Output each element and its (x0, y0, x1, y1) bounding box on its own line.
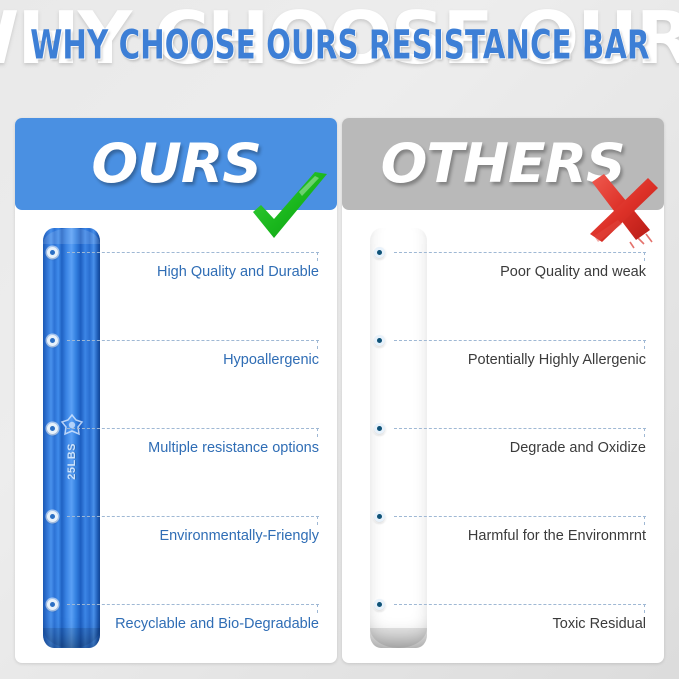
leader-tick (644, 516, 646, 525)
feature-row: Poor Quality and weak (342, 252, 664, 282)
leader-line (394, 340, 646, 342)
leader-line (394, 428, 646, 430)
bar-marker-dot (47, 335, 58, 346)
feature-row: Degrade and Oxidize (342, 428, 664, 458)
feature-label: Environmentally-Friengly (159, 528, 319, 545)
leader-tick (317, 604, 319, 613)
leader-tick (317, 340, 319, 349)
comparison-infographic: WHY CHOOSE OURS WHY CHOOSE OURS RESISTAN… (0, 0, 679, 679)
leader-line (67, 428, 319, 430)
panel-others-title: OTHERS (381, 137, 625, 191)
feature-row: Multiple resistance options (15, 428, 337, 458)
leader-tick (644, 252, 646, 261)
leader-tick (644, 428, 646, 437)
feature-label: High Quality and Durable (157, 264, 319, 281)
bar-marker-dot (47, 511, 58, 522)
feature-row: Toxic Residual (342, 604, 664, 634)
bar-marker-dot (47, 423, 58, 434)
leader-line (394, 516, 646, 518)
bar-marker-dot (374, 423, 385, 434)
feature-rows-others: Poor Quality and weak Potentially Highly… (342, 210, 664, 663)
leader-tick (644, 604, 646, 613)
leader-tick (644, 340, 646, 349)
feature-label: Multiple resistance options (148, 440, 319, 457)
feature-label: Harmful for the Environmrnt (468, 528, 646, 545)
bar-marker-dot (374, 511, 385, 522)
page-title: WHY CHOOSE OURS RESISTANCE BAR (30, 22, 649, 69)
feature-row: Harmful for the Environmrnt (342, 516, 664, 546)
leader-tick (317, 428, 319, 437)
panel-ours-title: OURS (91, 137, 261, 191)
feature-rows-ours: High Quality and Durable Hypoallergenic … (15, 210, 337, 663)
feature-label: Potentially Highly Allergenic (468, 352, 646, 369)
comparison-panels: OURS (0, 118, 679, 666)
feature-row: High Quality and Durable (15, 252, 337, 282)
feature-label: Toxic Residual (553, 616, 647, 633)
leader-line (67, 516, 319, 518)
bar-marker-dot (47, 247, 58, 258)
panel-ours-banner: OURS (15, 118, 337, 210)
leader-line (67, 340, 319, 342)
panel-others-banner: OTHERS (342, 118, 664, 210)
panel-ours: OURS (15, 118, 337, 663)
bar-marker-dot (374, 335, 385, 346)
bar-marker-dot (374, 247, 385, 258)
panel-others: OTHERS (342, 118, 664, 663)
feature-label: Degrade and Oxidize (510, 440, 646, 457)
leader-tick (317, 516, 319, 525)
feature-row: Hypoallergenic (15, 340, 337, 370)
feature-label: Hypoallergenic (223, 352, 319, 369)
leader-line (394, 604, 646, 606)
leader-line (67, 604, 319, 606)
feature-label: Poor Quality and weak (500, 264, 646, 281)
leader-line (67, 252, 319, 254)
feature-row: Recyclable and Bio-Degradable (15, 604, 337, 634)
leader-line (394, 252, 646, 254)
leader-tick (317, 252, 319, 261)
panel-others-body: Poor Quality and weak Potentially Highly… (342, 210, 664, 663)
feature-label: Recyclable and Bio-Degradable (115, 616, 319, 633)
panel-ours-body: 25LBS High Quality and Durable Hypo (15, 210, 337, 663)
feature-row: Potentially Highly Allergenic (342, 340, 664, 370)
feature-row: Environmentally-Friengly (15, 516, 337, 546)
bar-marker-dot (374, 599, 385, 610)
bar-marker-dot (47, 599, 58, 610)
page-header: WHY CHOOSE OURS WHY CHOOSE OURS RESISTAN… (0, 0, 679, 108)
